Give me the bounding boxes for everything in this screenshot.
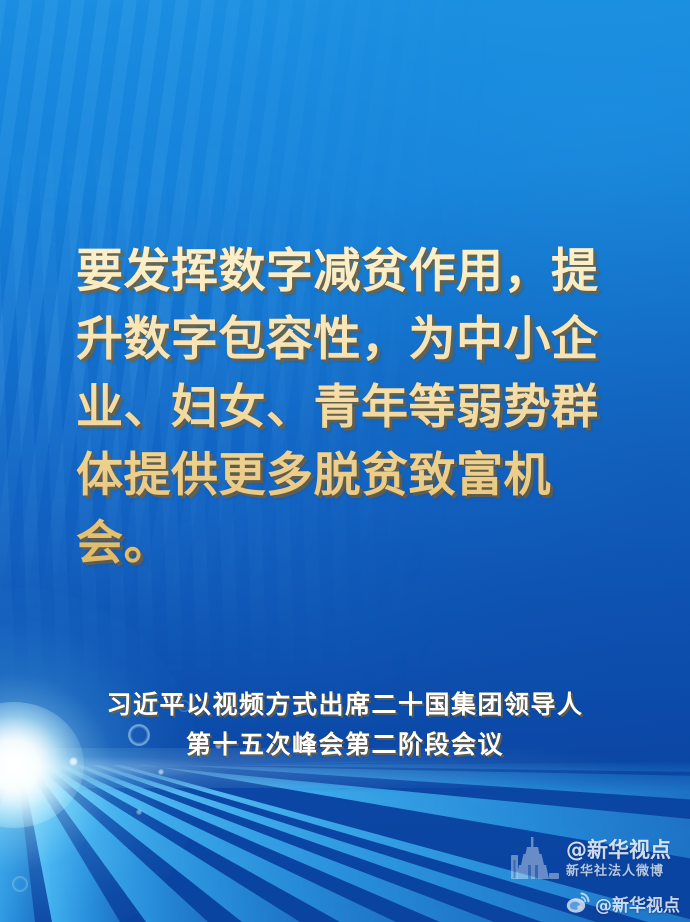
headline-quote: 要发挥数字减贫作用，提升数字包容性，为中小企业、妇女、青年等弱势群体提供更多脱贫… [76, 238, 636, 578]
poster-canvas: 要发挥数字减贫作用，提升数字包容性，为中小企业、妇女、青年等弱势群体提供更多脱贫… [0, 0, 690, 922]
caption-title: 习近平以视频方式出席二十国集团领导人 第十五次峰会第二阶段会议 [0, 685, 690, 765]
